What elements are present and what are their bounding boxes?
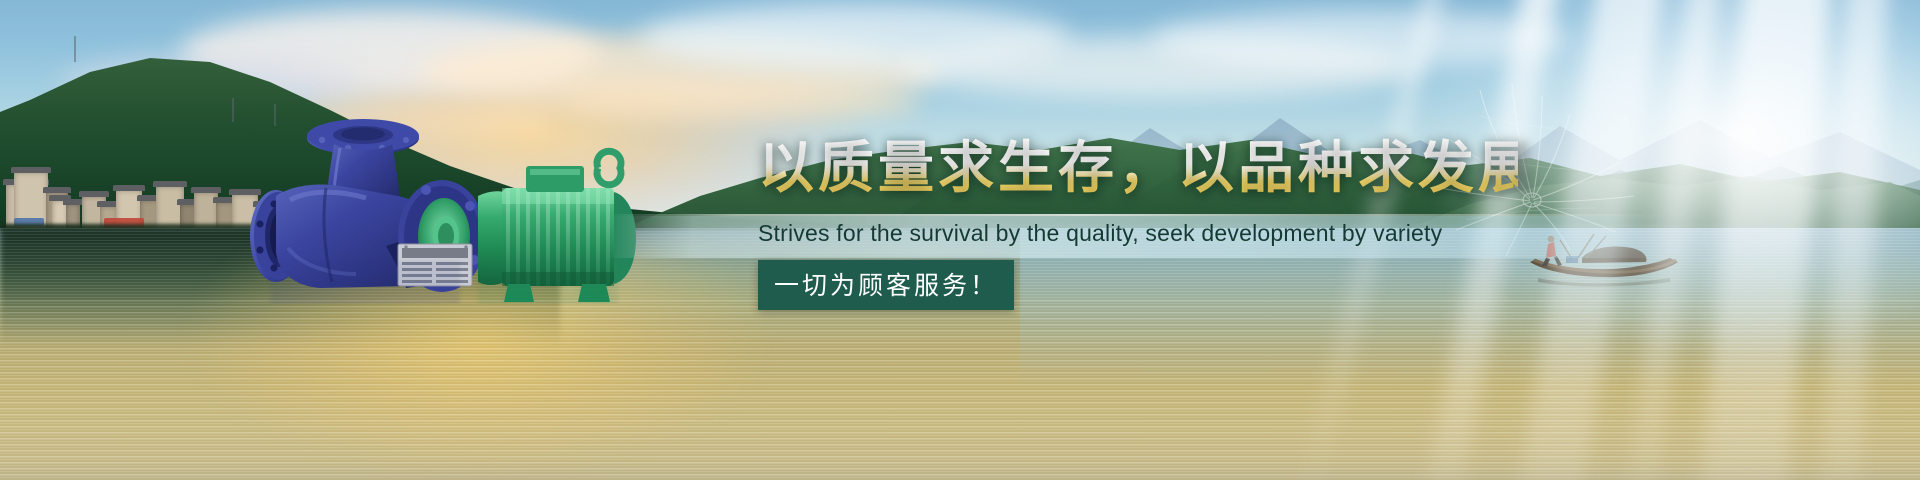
power-pylon bbox=[74, 36, 76, 62]
sun-glow bbox=[1280, 0, 1920, 400]
service-slogan-badge: 一切为顾客服务！ bbox=[758, 260, 1014, 310]
pump-water-reflection bbox=[230, 196, 650, 304]
banner-text-block: 以质量求生存，以品种求发展 Strives for the survival b… bbox=[758, 138, 1518, 198]
banner-subtitle: Strives for the survival by the quality,… bbox=[758, 220, 1442, 247]
subtitle-divider bbox=[608, 214, 1668, 216]
hero-banner: 以质量求生存，以品种求发展 Strives for the survival b… bbox=[0, 0, 1920, 480]
banner-headline: 以质量求生存，以品种求发展 bbox=[758, 138, 1518, 198]
